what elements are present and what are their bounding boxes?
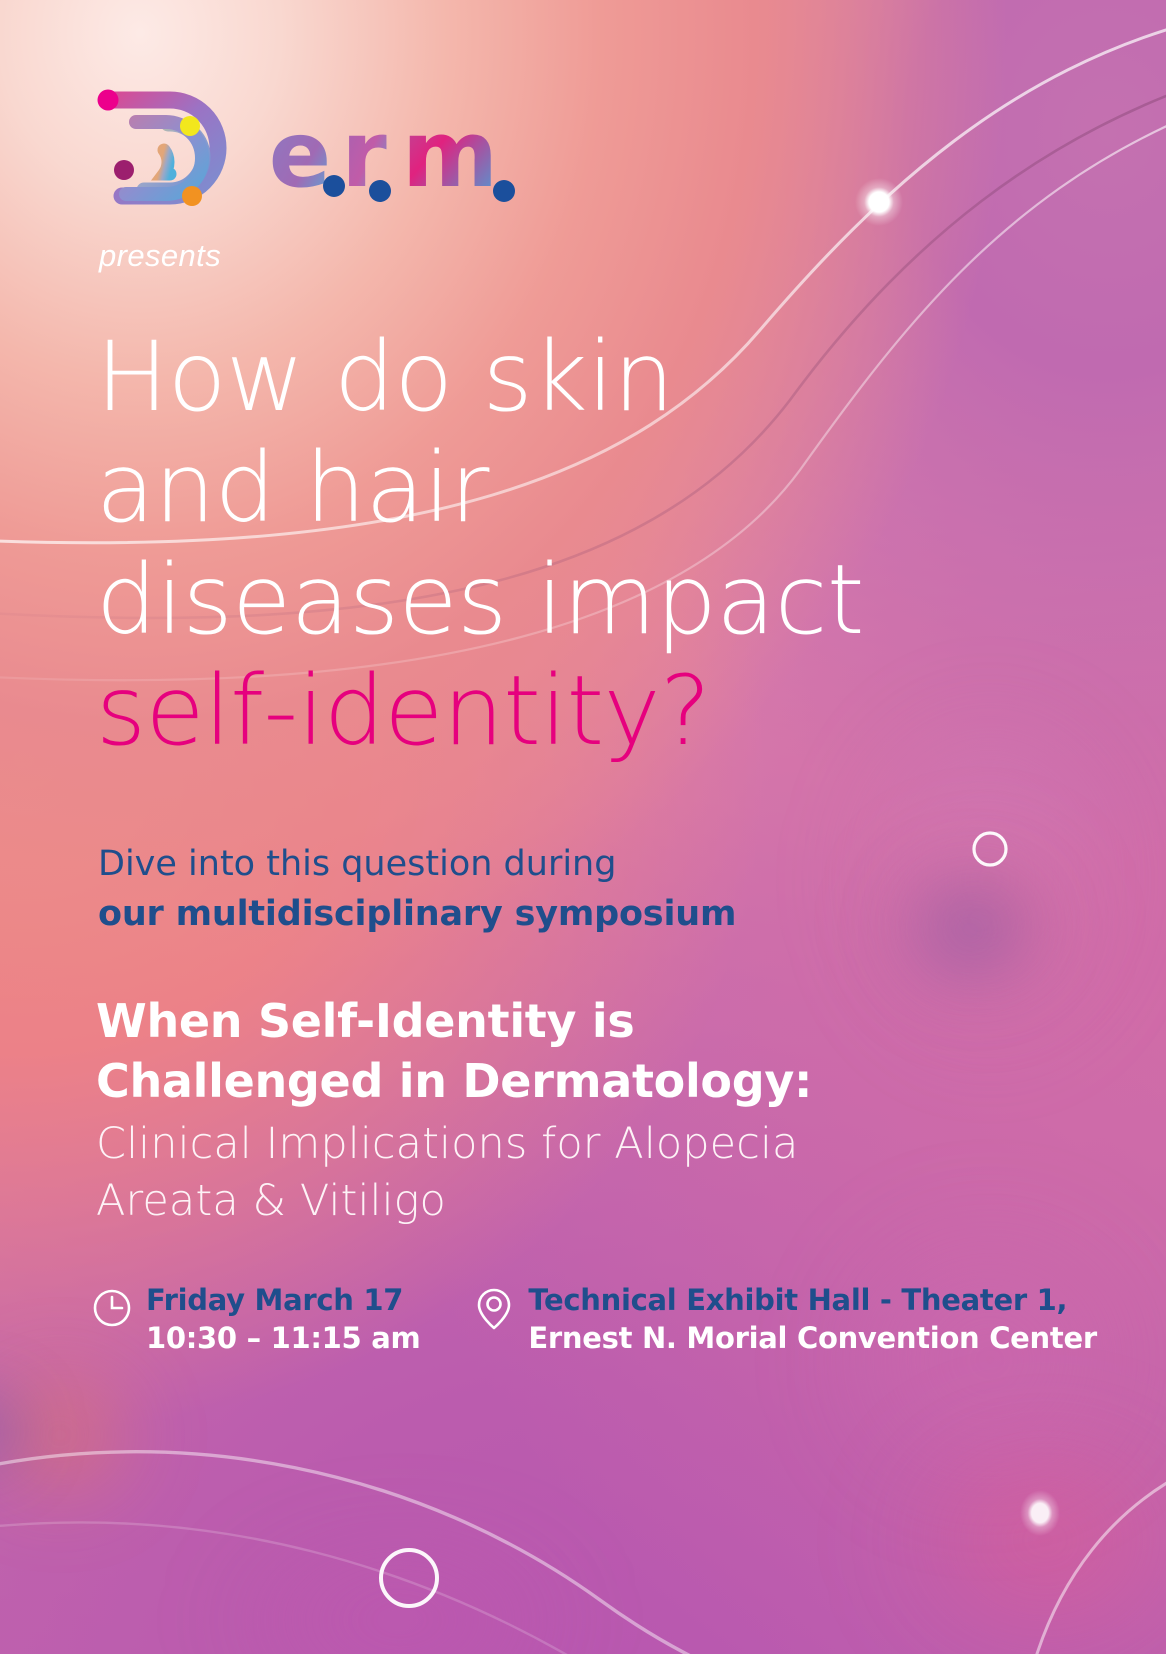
event-venue-center: Ernest N. Morial Convention Center (528, 1320, 1096, 1358)
headline-line-2: and hair (96, 433, 1076, 544)
event-venue-text: Technical Exhibit Hall - Theater 1, Erne… (528, 1282, 1096, 1357)
lead-in-text: Dive into this question during our multi… (98, 840, 918, 939)
svg-text:e: e (269, 101, 331, 208)
session-subtitle-line-2: Areata & Vitiligo (96, 1173, 1056, 1230)
event-time-text: Friday March 17 10:30 – 11:15 am (146, 1282, 420, 1357)
event-details: Friday March 17 10:30 – 11:15 am Technic… (92, 1282, 1112, 1357)
event-date: Friday March 17 (146, 1282, 420, 1320)
derm-logo-icon: e r m (92, 78, 562, 218)
session-title: When Self-Identity is Challenged in Derm… (96, 992, 1056, 1112)
derm-logo: e r m (92, 78, 562, 218)
event-poster: e r m presents How do skin and hair dise… (0, 0, 1166, 1654)
session-subtitle-line-1: Clinical Implications for Alopecia (96, 1116, 1056, 1173)
lead-in-line-2: our multidisciplinary symposium (98, 890, 918, 940)
headline-line-1: How do skin (96, 322, 1076, 433)
event-time-range: 10:30 – 11:15 am (146, 1320, 420, 1358)
event-time: Friday March 17 10:30 – 11:15 am (92, 1282, 420, 1357)
clock-icon (92, 1284, 132, 1332)
headline-line-3: diseases impact (96, 545, 1076, 656)
background-blob (0, 1355, 70, 1505)
map-pin-icon (474, 1284, 514, 1332)
session-subtitle: Clinical Implications for Alopecia Areat… (96, 1116, 1056, 1230)
page-title: How do skin and hair diseases impact sel… (96, 322, 1076, 767)
event-venue-hall: Technical Exhibit Hall - Theater 1, (528, 1282, 1096, 1320)
session-title-line-1: When Self-Identity is (96, 992, 1056, 1052)
headline-line-4-highlight: self-identity? (96, 656, 1076, 767)
presents-label: presents (99, 238, 221, 274)
glow-dot (855, 178, 903, 226)
lead-in-line-1: Dive into this question during (98, 844, 616, 884)
event-venue: Technical Exhibit Hall - Theater 1, Erne… (474, 1282, 1096, 1357)
session-title-line-2: Challenged in Dermatology: (96, 1052, 1056, 1112)
svg-text:m: m (402, 101, 498, 208)
background-blob (830, 1380, 1166, 1654)
background-blob (140, 1490, 660, 1654)
session-block: When Self-Identity is Challenged in Derm… (96, 992, 1056, 1230)
